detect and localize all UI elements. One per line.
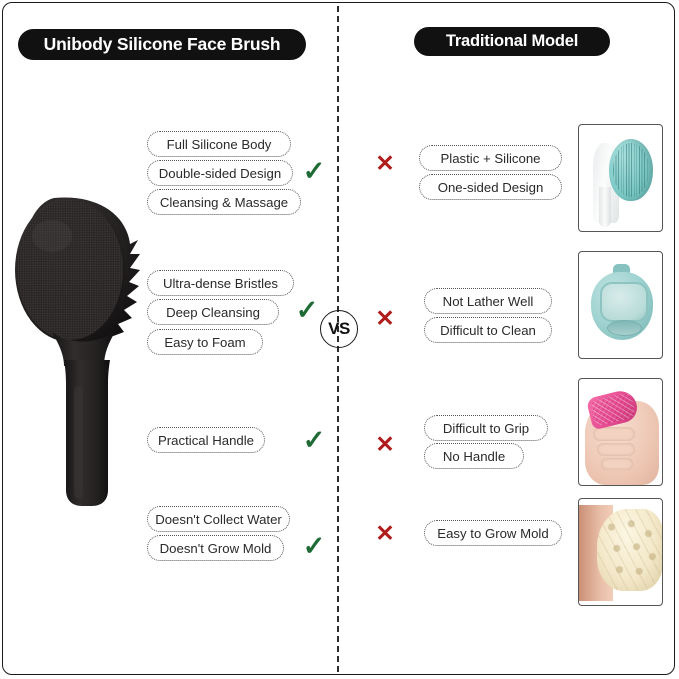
check-icon-row-3: ✓ [300, 426, 328, 454]
cross-icon-row-3: ✕ [371, 430, 399, 458]
thumb3-finger-3 [601, 458, 633, 470]
header-pill-left: Unibody Silicone Face Brush [18, 29, 306, 60]
comparison-infographic: Unibody Silicone Face Brush Traditional … [0, 0, 679, 679]
bristle-texture [17, 200, 123, 340]
pro-chip-1-3: Cleansing & Massage [147, 189, 301, 215]
check-icon-row-2: ✓ [293, 296, 321, 324]
pro-chip-1-2: Double-sided Design [147, 160, 293, 186]
head-highlight [32, 220, 72, 252]
con-chip-2-2: Difficult to Clean [424, 317, 552, 343]
thumb4-mesh-texture [597, 509, 663, 591]
thumb2-slot [607, 320, 642, 336]
brush-illustration [8, 190, 158, 510]
cross-icon-row-1: ✕ [371, 149, 399, 177]
pro-chip-2-1: Ultra-dense Bristles [147, 270, 294, 296]
con-chip-2-1: Not Lather Well [424, 288, 552, 314]
product-image-black-face-brush [8, 190, 158, 510]
pro-chip-1-1: Full Silicone Body [147, 131, 291, 157]
cross-icon-row-4: ✕ [371, 519, 399, 547]
handle-highlight [74, 386, 83, 498]
con-chip-4-1: Easy to Grow Mold [424, 520, 562, 546]
cross-icon-row-2: ✕ [371, 304, 399, 332]
thumbnail-3-hand-pink-pad [578, 378, 663, 486]
pro-chip-2-2: Deep Cleansing [147, 299, 279, 325]
con-chip-3-1: Difficult to Grip [424, 415, 548, 441]
vs-badge: VS [320, 310, 358, 348]
pro-chip-4-2: Doesn't Grow Mold [147, 535, 284, 561]
check-icon-row-4: ✓ [300, 532, 328, 560]
pro-chip-4-1: Doesn't Collect Water [147, 506, 290, 532]
thumb2-body [591, 272, 653, 340]
pro-chip-3-1: Practical Handle [147, 427, 265, 453]
con-chip-1-1: Plastic + Silicone [419, 145, 562, 171]
thumb1-silicone-head [609, 139, 653, 201]
check-icon-row-1: ✓ [300, 157, 328, 185]
thumb1-bristles [613, 143, 649, 197]
thumbnail-4-mesh-sponge [578, 498, 663, 606]
thumb2-scrub-pad [600, 282, 648, 322]
con-chip-1-2: One-sided Design [419, 174, 562, 200]
thumbnail-1-teal-brush [578, 124, 663, 232]
con-chip-3-2: No Handle [424, 443, 524, 469]
header-pill-right: Traditional Model [414, 27, 610, 56]
brush-handle [64, 360, 110, 506]
pro-chip-2-3: Easy to Foam [147, 329, 263, 355]
thumb3-finger-1 [593, 427, 635, 441]
thumb1-handle-stem [599, 187, 611, 227]
thumb4-sponge [597, 509, 663, 591]
thumb3-finger-2 [597, 443, 635, 456]
thumbnail-2-teal-pad [578, 251, 663, 359]
